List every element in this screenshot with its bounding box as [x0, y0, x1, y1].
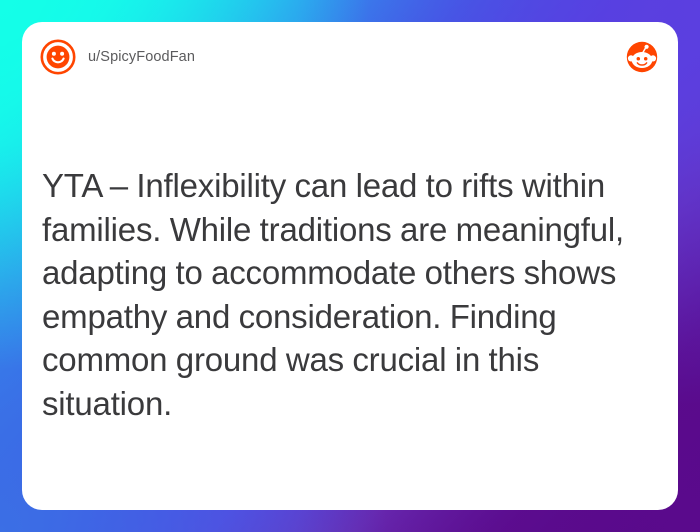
reddit-logo[interactable]: [626, 41, 658, 73]
smiley-face-avatar-icon: [40, 39, 76, 75]
gradient-background: u/SpicyFoodFan: [0, 0, 700, 532]
username-label: u/SpicyFoodFan: [88, 49, 195, 65]
reddit-snoo-icon: [626, 41, 658, 73]
avatar[interactable]: [40, 39, 76, 75]
post-body: YTA – Inflexibility can lead to rifts wi…: [22, 78, 678, 510]
post-header: u/SpicyFoodFan: [22, 22, 678, 78]
post-text: YTA – Inflexibility can lead to rifts wi…: [42, 164, 656, 425]
reddit-post-card: u/SpicyFoodFan: [22, 22, 678, 510]
